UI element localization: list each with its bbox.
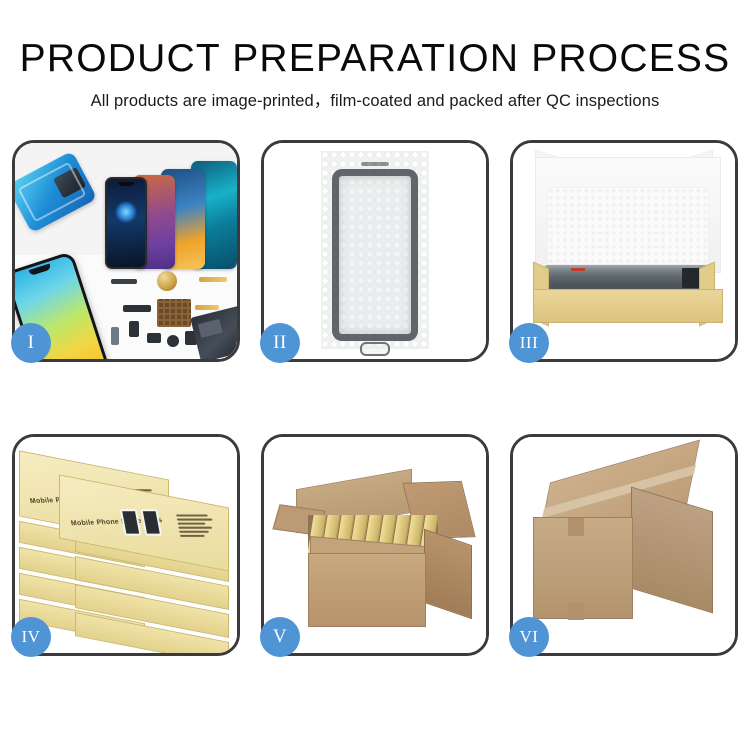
part-flex-cable-1	[199, 277, 227, 282]
page-header: PRODUCT PREPARATION PROCESS All products…	[0, 0, 750, 111]
phone-dark-blue	[105, 177, 147, 269]
sealed-carton-side	[631, 486, 713, 613]
step-badge-2: II	[260, 323, 300, 363]
step-1-image	[15, 143, 237, 359]
step-badge-3: III	[509, 323, 549, 363]
step-panel-2: II	[261, 140, 489, 362]
step-panel-3: III	[510, 140, 738, 362]
part-button-1	[129, 321, 139, 337]
lid-spec-line	[178, 527, 212, 529]
part-speaker-ring	[157, 271, 177, 291]
lid-screen-thumb	[120, 509, 142, 535]
step-4-image: Mobile Phone Spare Parts	[15, 437, 237, 653]
foam-padding	[547, 187, 709, 265]
spare-parts-group	[111, 271, 237, 359]
part-camera-1	[147, 333, 161, 343]
carton-front-panel	[308, 553, 426, 627]
lid-spec-line	[180, 535, 205, 537]
step-panel-5: V	[261, 434, 489, 656]
part-strip-1	[111, 279, 137, 284]
lid-spec-line	[179, 531, 209, 533]
step-badge-6: VI	[509, 617, 549, 657]
box-front-wall	[533, 289, 723, 323]
step-4-backdrop: Mobile Phone Spare Parts	[15, 437, 237, 653]
step-2-backdrop	[264, 143, 486, 359]
part-contact-grid	[157, 299, 191, 327]
step-6-backdrop	[513, 437, 735, 653]
step-6-image	[513, 437, 735, 653]
sealed-carton-front	[533, 517, 633, 619]
wrapped-screen-glass	[332, 169, 418, 341]
step-2-image	[264, 143, 486, 359]
part-flex-cable-2	[195, 305, 219, 310]
part-lens	[167, 335, 179, 347]
lid-spec-line	[178, 523, 206, 525]
adhesive-chip	[53, 167, 86, 199]
step-badge-5: V	[260, 617, 300, 657]
step-3-image	[513, 143, 735, 359]
step-panel-6: VI	[510, 434, 738, 656]
page-title: PRODUCT PREPARATION PROCESS	[0, 36, 750, 82]
packed-screen	[545, 265, 711, 291]
step-5-image	[264, 437, 486, 653]
process-steps-grid: I II	[12, 140, 738, 656]
carton-seam-tab-bottom	[568, 602, 584, 620]
lid-spec-lines-front	[176, 514, 222, 539]
step-5-backdrop	[264, 437, 486, 653]
step-panel-4: Mobile Phone Spare Parts	[12, 434, 240, 656]
page-subtitle: All products are image-printed，film-coat…	[0, 91, 750, 111]
carton-side-panel	[424, 529, 472, 620]
part-motherboard	[190, 305, 237, 359]
lid-screen-thumb	[140, 509, 162, 535]
box-stack: Mobile Phone Spare Parts	[19, 447, 233, 647]
phone-notch	[118, 182, 134, 186]
step-3-backdrop	[513, 143, 735, 359]
screen-warning-label	[571, 268, 585, 271]
lid-screens-front	[120, 509, 162, 535]
lid-spec-line	[177, 519, 213, 521]
step-panel-1: I	[12, 140, 240, 362]
step-badge-1: I	[11, 323, 51, 363]
carton-seam-tab-top	[568, 518, 584, 536]
step-badge-4: IV	[11, 617, 51, 657]
product-preparation-infographic: PRODUCT PREPARATION PROCESS All products…	[0, 0, 750, 750]
part-bracket-1	[123, 305, 151, 312]
lid-spec-line	[176, 514, 208, 516]
part-sim-tray	[111, 327, 119, 345]
screen-earpiece-slot	[361, 162, 389, 166]
